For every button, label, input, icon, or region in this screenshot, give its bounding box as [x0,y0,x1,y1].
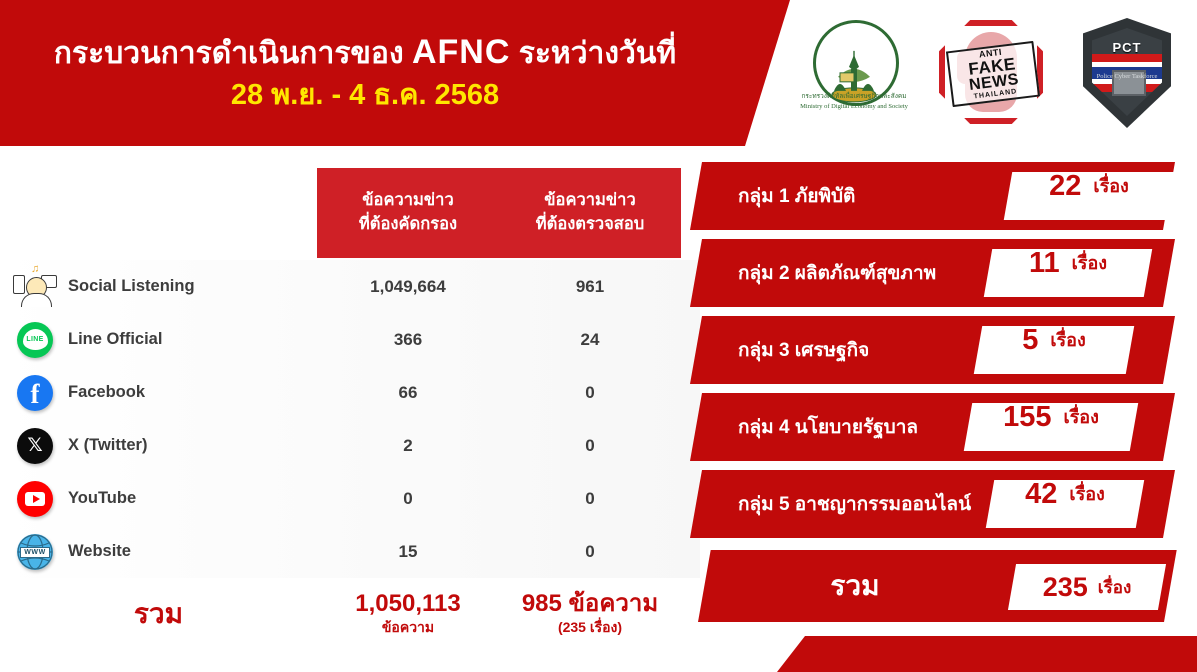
pct-acronym: PCT [1092,40,1162,55]
verified-count: 0 [499,436,681,456]
total-verified-value: 985 ข้อความ [499,590,681,618]
group-bar-4: กลุ่ม 4 นโยบายรัฐบาล 155 เรื่อง [690,393,1197,461]
footer-strip [0,636,1197,672]
verified-count: 961 [499,277,681,297]
group-value-content: 42 เรื่อง [990,470,1140,518]
group-label: กลุ่ม 5 อาชญากรรมออนไลน์ [738,470,971,538]
group-label: กลุ่ม 4 นโยบายรัฐบาล [738,393,918,461]
phone-shape [13,275,25,294]
group-value: 42 [1025,480,1057,509]
group-unit: เรื่อง [1072,254,1107,272]
table-row: YouTube 0 0 [0,472,700,525]
pct-shield-icon: PCT Police Cyber Taskforce [1067,14,1185,140]
x-twitter-icon: 𝕏 [0,428,62,464]
group-unit: เรื่อง [1069,485,1104,503]
group-value: 5 [1022,326,1038,355]
screened-count: 15 [317,542,499,562]
table-row: LINE Line Official 366 24 [0,313,700,366]
column-header-verified: ข้อความข่าว ที่ต้องตรวจสอบ [499,168,681,258]
group-unit: เรื่อง [1093,177,1128,195]
seal-caption-en: Ministry of Digital Economy and Society [795,102,913,112]
total-screened-unit: ข้อความ [317,618,499,638]
verified-count: 0 [499,542,681,562]
group-bar-5: กลุ่ม 5 อาชญากรรมออนไลน์ 42 เรื่อง [690,470,1197,538]
platform-name: YouTube [62,489,317,508]
group-value-content: 155 เรื่อง [968,393,1134,441]
group-total-label: รวม [690,550,1020,622]
group-value: 11 [1029,249,1060,278]
total-verified: 985 ข้อความ (235 เรื่อง) [499,590,681,637]
social-listening-icon: ♫ [0,266,62,308]
music-note-icon: ♫ [31,264,39,275]
screened-count: 1,049,664 [317,277,499,297]
table-row: WWW Website 15 0 [0,525,700,578]
youtube-icon [0,481,62,517]
facebook-icon: f [0,375,62,411]
group-value-content: 11 เรื่อง [988,239,1148,287]
col-verified-line1: ข้อความข่าว [544,189,635,213]
platform-name: Social Listening [62,277,317,296]
total-screened: 1,050,113 ข้อความ [317,590,499,637]
group-bar-3: กลุ่ม 3 เศรษฐกิจ 5 เรื่อง [690,316,1197,384]
group-value-content: 22 เรื่อง [1008,162,1170,210]
group-total-value: 235 [1043,574,1088,601]
title-tail-text: ระหว่างวันที่ [510,37,676,70]
www-label: WWW [20,547,50,558]
date-range: 28 พ.ย. - 4 ธ.ค. 2568 [231,77,499,115]
column-header-screened: ข้อความข่าว ที่ต้องคัดกรอง [317,168,499,258]
website-globe-icon: WWW [0,534,62,570]
group-total-unit: เรื่อง [1098,579,1131,596]
table-body: ♫ Social Listening 1,049,664 961 LINE Li… [0,260,700,578]
group-label: กลุ่ม 3 เศรษฐกิจ [738,316,869,384]
table-row: f Facebook 66 0 [0,366,700,419]
header-banner: กระบวนการดำเนินการของ AFNC ระหว่างวันที่… [0,0,790,146]
screened-count: 0 [317,489,499,509]
total-screened-value: 1,050,113 [317,590,499,618]
verified-count: 0 [499,383,681,403]
screened-count: 2 [317,436,499,456]
table-header-row: ข้อความข่าว ที่ต้องคัดกรอง ข้อความข่าว ท… [317,168,681,258]
group-value: 155 [1003,403,1051,432]
platform-name: Line Official [62,330,317,349]
col-screened-line1: ข้อความข่าว [362,189,453,213]
footer-accent-shape [777,636,1197,672]
group-bar-2: กลุ่ม 2 ผลิตภัณฑ์สุขภาพ 11 เรื่อง [690,239,1197,307]
total-verified-unit: (235 เรื่อง) [499,618,681,638]
facebook-glyph: f [31,381,40,408]
seal-caption: กระทรวงดิจิทัลเพื่อเศรษฐกิจและสังคม Mini… [795,92,913,138]
verified-count: 24 [499,330,681,350]
x-glyph: 𝕏 [27,436,42,455]
line-label: LINE [26,336,43,343]
group-total-bar: รวม 235 เรื่อง [690,550,1197,622]
group-label: กลุ่ม 2 ผลิตภัณฑ์สุขภาพ [738,239,936,307]
table-row: ♫ Social Listening 1,049,664 961 [0,260,700,313]
octagon-content: ANTI FAKE NEWS THAILAND [939,20,1043,124]
verified-count: 0 [499,489,681,509]
pct-caption: Police Cyber Taskforce [1083,72,1171,118]
ministry-seal-icon: กระทรวงดิจิทัลเพื่อเศรษฐกิจและสังคม Mini… [795,14,913,140]
screened-count: 366 [317,330,499,350]
platform-table: ข้อความข่าว ที่ต้องคัดกรอง ข้อความข่าว ท… [0,150,700,660]
logo-row: กระทรวงดิจิทัลเพื่อเศรษฐกิจและสังคม Mini… [795,12,1195,142]
category-group-panel: กลุ่ม 1 ภัยพิบัติ 22 เรื่อง กลุ่ม 2 ผลิต… [690,162,1197,592]
anti-fake-news-icon: ANTI FAKE NEWS THAILAND [931,14,1049,140]
person-body-shape [21,293,52,307]
group-bar-1: กลุ่ม 1 ภัยพิบัติ 22 เรื่อง [690,162,1197,230]
group-unit: เรื่อง [1063,408,1098,426]
platform-name: Facebook [62,383,317,402]
table-row: 𝕏 X (Twitter) 2 0 [0,419,700,472]
page-title: กระบวนการดำเนินการของ AFNC ระหว่างวันที่ [54,31,676,74]
platform-name: X (Twitter) [62,436,317,455]
fake-news-stamp: ANTI FAKE NEWS THAILAND [946,41,1040,107]
screened-count: 66 [317,383,499,403]
group-unit: เรื่อง [1050,331,1085,349]
line-icon: LINE [0,322,62,358]
col-verified-line2: ที่ต้องตรวจสอบ [536,213,645,237]
total-label: รวม [0,592,317,636]
col-screened-line2: ที่ต้องคัดกรอง [359,213,457,237]
seal-caption-th: กระทรวงดิจิทัลเพื่อเศรษฐกิจและสังคม [795,92,913,102]
title-main-text: กระบวนการดำเนินการของ [54,37,412,70]
group-value: 22 [1049,172,1081,201]
group-value-content: 5 เรื่อง [978,316,1130,364]
group-label: กลุ่ม 1 ภัยพิบัติ [738,162,855,230]
group-total-value-content: 235 เรื่อง [1012,564,1162,610]
title-acronym: AFNC [412,33,510,71]
platform-name: Website [62,542,317,561]
